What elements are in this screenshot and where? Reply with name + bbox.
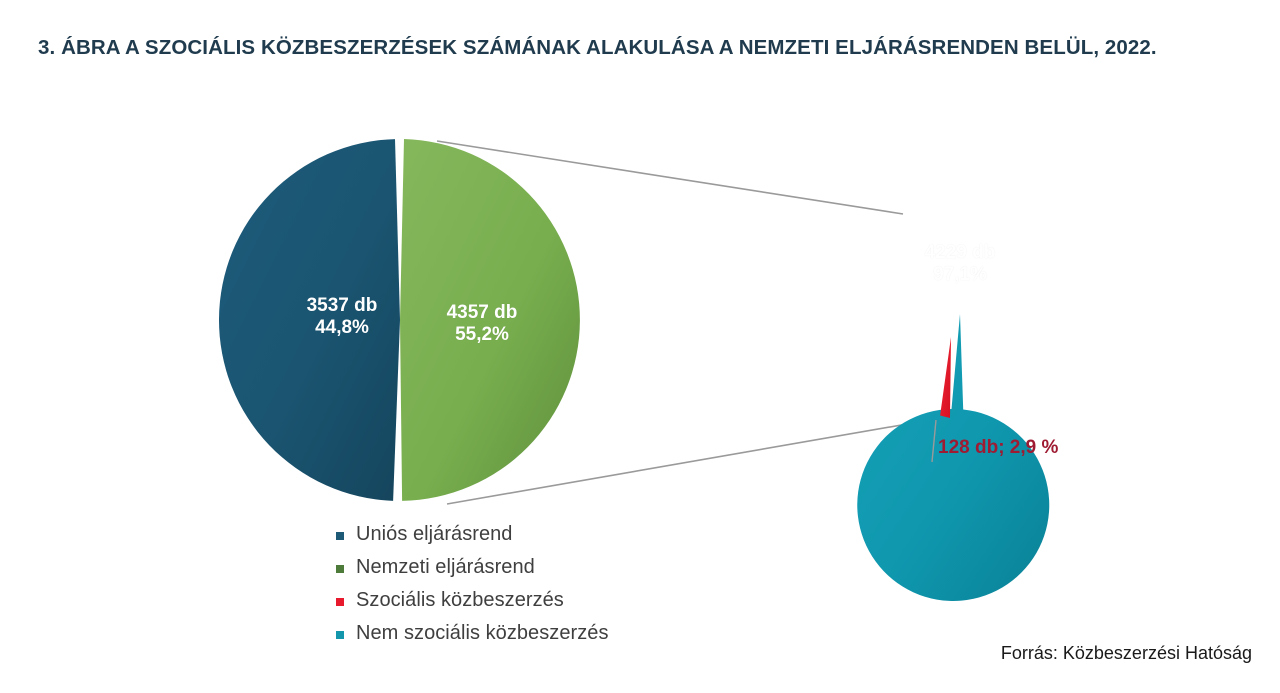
- data-label-nemzeti: 4357 db 55,2%: [398, 302, 566, 347]
- legend-swatch-icon: [336, 565, 344, 573]
- data-label-nem-szocialis-percent: 97,1%: [876, 264, 1044, 286]
- legend-item-nem-szocialis-kozbeszerzes[interactable]: Nem szociális közbeszerzés: [336, 617, 609, 650]
- data-label-nem-szocialis-value: 4229 db: [876, 242, 1044, 264]
- legend-swatch-icon: [336, 631, 344, 639]
- legend-item-nemzeti-eljarasrend[interactable]: Nemzeti eljárásrend: [336, 551, 609, 584]
- legend-item-szocialis-kozbeszerzes[interactable]: Szociális közbeszerzés: [336, 584, 609, 617]
- legend-item-label: Nem szociális közbeszerzés: [356, 622, 609, 645]
- slice-szocialis-kozbeszerzes[interactable]: [940, 337, 951, 418]
- legend-item-label: Szociális közbeszerzés: [356, 589, 564, 612]
- data-label-nemzeti-percent: 55,2%: [398, 324, 566, 346]
- legend-swatch-icon: [336, 598, 344, 606]
- legend-item-unios-eljarasrend[interactable]: Uniós eljárásrend: [336, 518, 609, 551]
- legend-item-label: Nemzeti eljárásrend: [356, 556, 535, 579]
- legend-swatch-icon: [336, 532, 344, 540]
- data-label-szocialis: 128 db; 2,9 %: [938, 437, 1058, 459]
- legend: Uniós eljárásrend Nemzeti eljárásrend Sz…: [336, 518, 609, 650]
- legend-item-label: Uniós eljárásrend: [356, 523, 513, 546]
- source-note: Forrás: Közbeszerzési Hatóság: [1001, 643, 1252, 664]
- pie-of-pie-chart: [0, 0, 1280, 693]
- data-label-nemzeti-value: 4357 db: [398, 302, 566, 324]
- figure-canvas: 3. ÁBRA A SZOCIÁLIS KÖZBESZERZÉSEK SZÁMÁ…: [0, 0, 1280, 693]
- data-label-nem-szocialis: 4229 db 97,1%: [876, 242, 1044, 287]
